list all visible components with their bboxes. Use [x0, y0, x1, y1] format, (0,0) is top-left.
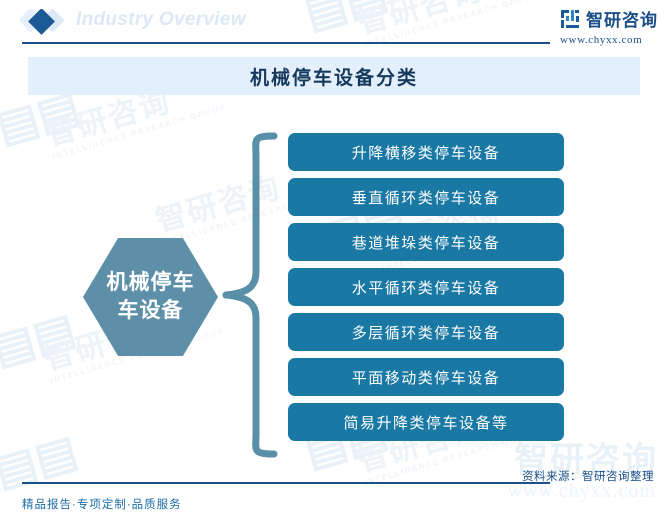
root-node-label-line2: 车设备 — [118, 297, 184, 325]
footer-divider — [22, 482, 550, 484]
category-box[interactable]: 巷道堆垛类停车设备 — [288, 223, 564, 261]
root-node-hexagon[interactable]: 机械停车 车设备 — [83, 238, 218, 356]
root-node-label-line1: 机械停车 — [107, 269, 195, 297]
category-box[interactable]: 水平循环类停车设备 — [288, 268, 564, 306]
category-box[interactable]: 平面移动类停车设备 — [288, 358, 564, 396]
category-box-list: 升降横移类停车设备 垂直循环类停车设备 巷道堆垛类停车设备 水平循环类停车设备 … — [288, 133, 564, 441]
classification-diagram: 机械停车 车设备 升降横移类停车设备 垂直循环类停车设备 巷道堆垛类停车设备 水… — [0, 100, 672, 470]
brand-name: 智研咨询 — [586, 6, 658, 31]
page-eyebrow-title: Industry Overview — [76, 9, 246, 31]
curly-brace-connector — [218, 130, 280, 460]
header-divider — [22, 42, 550, 44]
brand-url[interactable]: www.chyxx.com — [560, 34, 658, 46]
brand-block[interactable]: 智研咨询 www.chyxx.com — [560, 6, 658, 46]
page-footer: 智研咨询 www.chyxx.com 精品报告·专项定制·品质服务 资料来源：智… — [0, 474, 672, 530]
category-box[interactable]: 多层循环类停车设备 — [288, 313, 564, 351]
diamond-logo-icon — [20, 9, 72, 39]
chart-title: 机械停车设备分类 — [250, 63, 418, 90]
chyxx-logo-icon — [560, 9, 580, 29]
category-box[interactable]: 垂直循环类停车设备 — [288, 178, 564, 216]
chart-title-band: 机械停车设备分类 — [28, 57, 640, 95]
category-box[interactable]: 升降横移类停车设备 — [288, 133, 564, 171]
footer-source-note: 资料来源：智研咨询整理 — [522, 468, 654, 484]
footer-tagline: 精品报告·专项定制·品质服务 — [22, 496, 182, 512]
page-header: Industry Overview 智研咨询 www.chyxx.com — [0, 0, 672, 52]
